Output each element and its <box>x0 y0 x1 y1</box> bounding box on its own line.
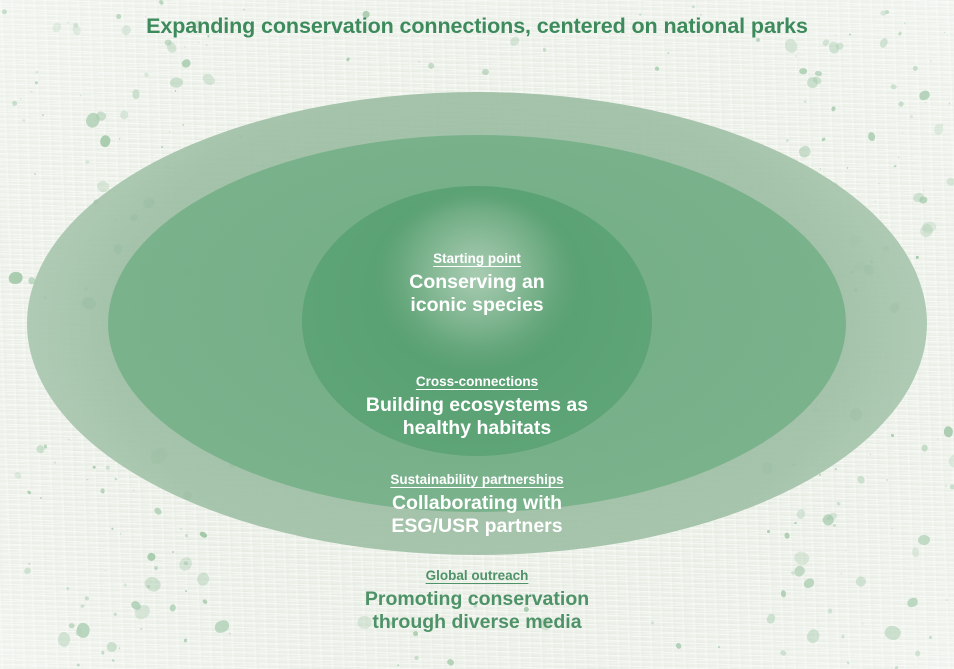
label-sustainability-partnerships: Sustainability partnerships <box>390 472 563 489</box>
body-cross-connections: Building ecosystems as healthy habitats <box>0 394 954 440</box>
text-block-global-outreach: Global outreach Promoting conservation t… <box>0 567 954 634</box>
text-block-cross-connections: Cross-connections Building ecosystems as… <box>0 373 954 440</box>
text-block-sustainability-partnerships: Sustainability partnerships Collaboratin… <box>0 471 954 538</box>
label-starting-point: Starting point <box>433 251 521 268</box>
body-sustainability-partnerships: Collaborating with ESG/USR partners <box>0 492 954 538</box>
page-title: Expanding conservation connections, cent… <box>0 14 954 39</box>
body-global-outreach: Promoting conservation through diverse m… <box>0 588 954 634</box>
body-starting-point: Conserving an iconic species <box>0 271 954 317</box>
label-cross-connections: Cross-connections <box>416 374 538 391</box>
slide-canvas: Expanding conservation connections, cent… <box>0 0 954 669</box>
text-block-starting-point: Starting point Conserving an iconic spec… <box>0 250 954 317</box>
label-global-outreach: Global outreach <box>426 568 529 585</box>
